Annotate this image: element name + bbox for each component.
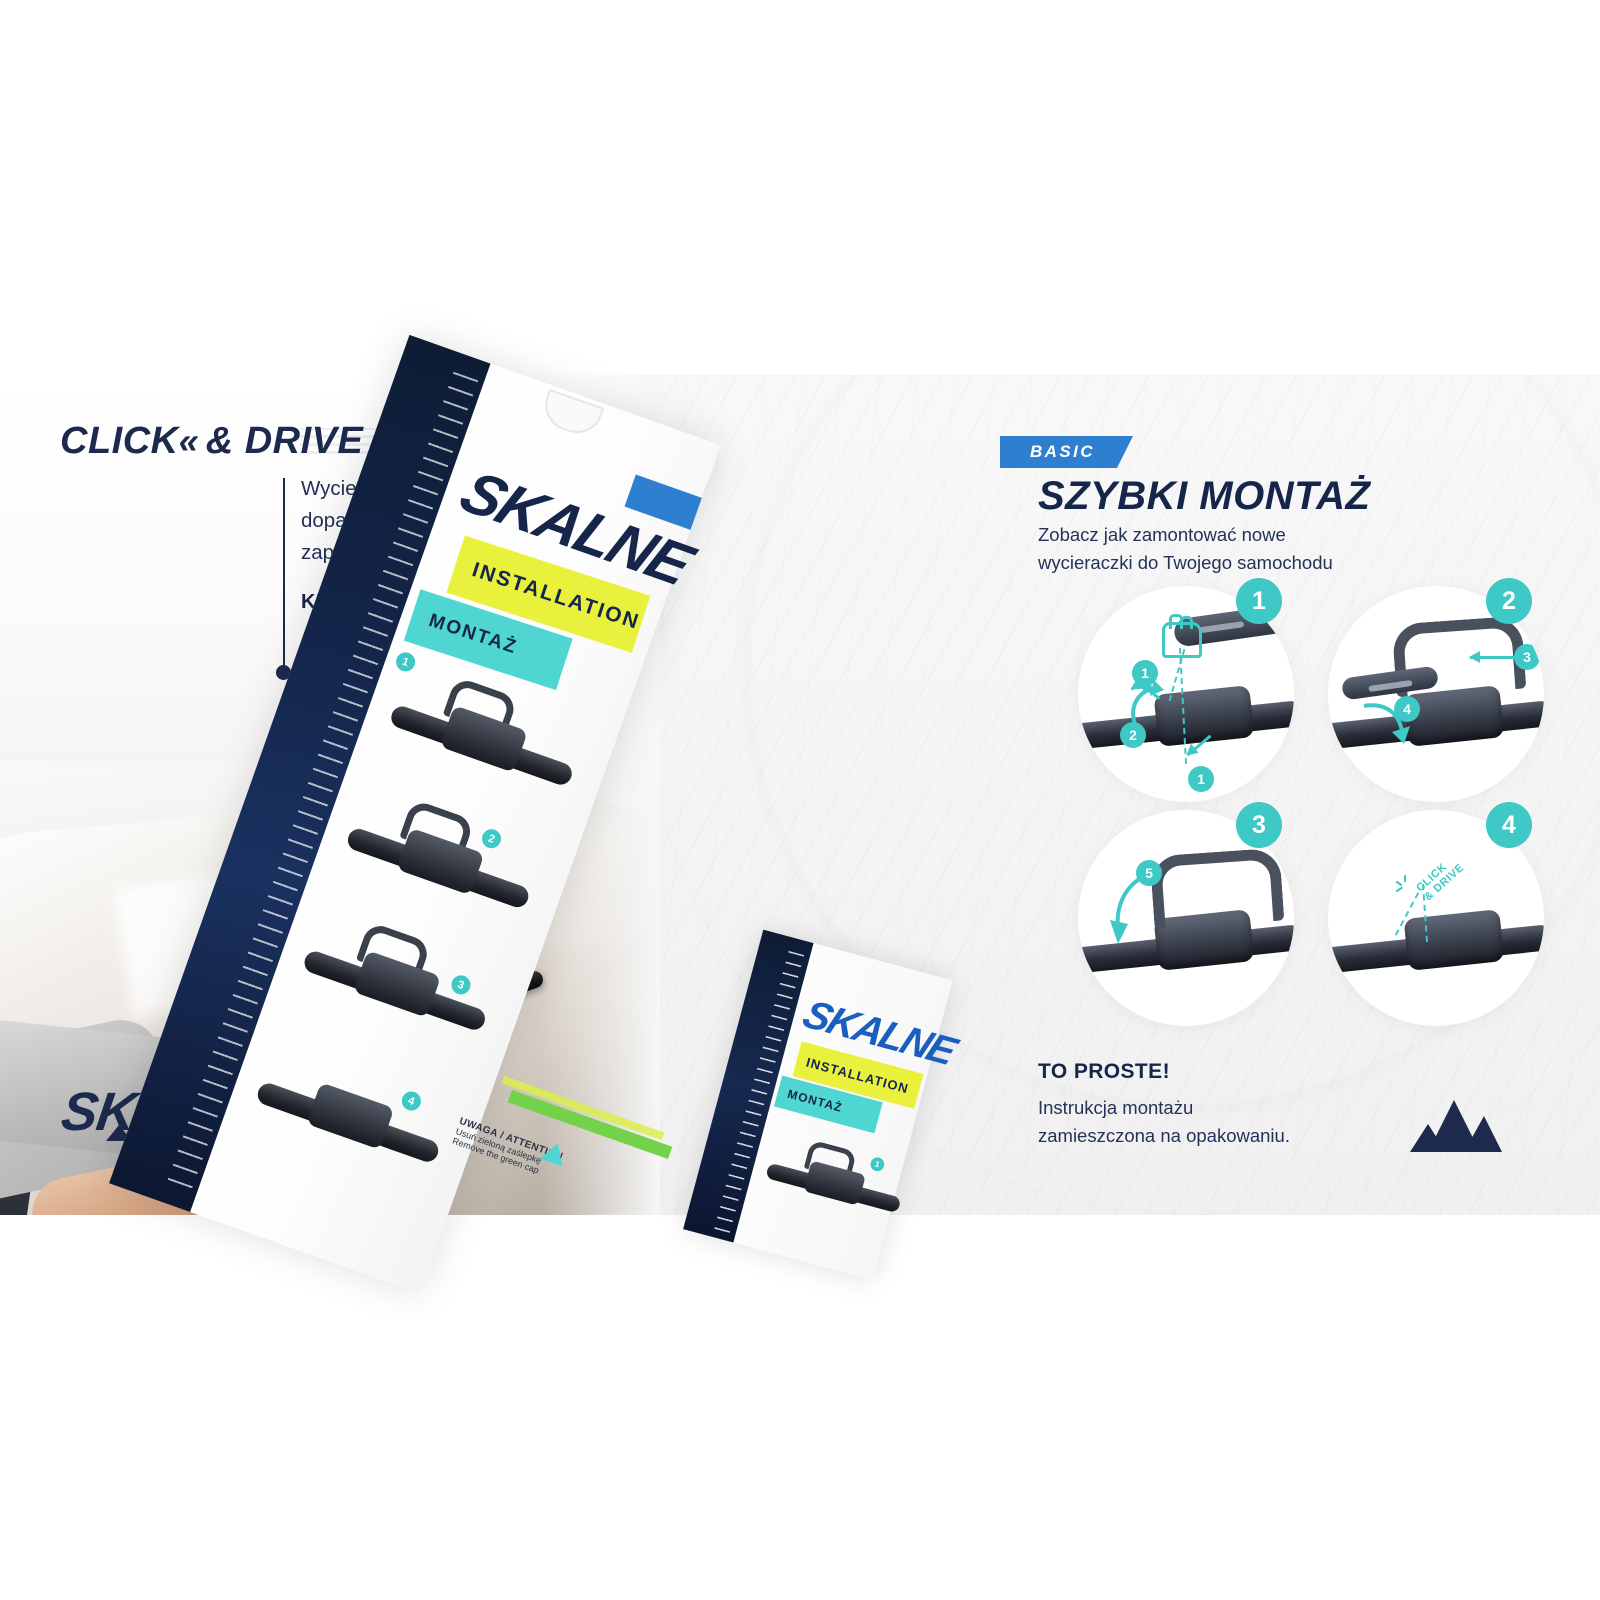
package-step2-adapter [396, 828, 484, 896]
package-montaz-text: MONTAŻ [426, 610, 520, 659]
section-subtitle-line-2: wycieraczki do Twojego samochodu [1038, 549, 1378, 577]
step2-marker-3: 3 [1514, 644, 1540, 670]
small-package-step-badge: 1 [869, 1156, 886, 1173]
instruction-steps-grid: 1 2 1 1 3 4 2 [1078, 578, 1548, 1018]
section-title: SZYBKI MONTAŻ [1038, 474, 1370, 519]
callout-connector-line [283, 478, 285, 670]
step-badge-3: 3 [1236, 802, 1282, 848]
package-step1-adapter [440, 705, 528, 773]
step1-marker-2: 2 [1120, 722, 1146, 748]
package-step1-badge: 1 [393, 650, 417, 674]
footer-line-2: zamieszczona na opakowaniu. [1038, 1122, 1438, 1150]
tier-badge-basic: BASIC [1000, 436, 1117, 468]
package-step2-badge: 2 [479, 827, 503, 851]
footer-line-1: Instrukcja montażu [1038, 1094, 1438, 1122]
step2-arrow-in [1470, 656, 1518, 659]
step-badge-1: 1 [1236, 578, 1282, 624]
kicker-chevrons-icon: « [179, 420, 195, 461]
step-badge-2: 2 [1486, 578, 1532, 624]
step1-marker-3: 1 [1188, 766, 1214, 792]
section-subtitle: Zobacz jak zamontować nowe wycieraczki d… [1038, 521, 1378, 577]
package-step3-badge: 3 [449, 973, 473, 997]
small-package-montaz-text: MONTAŻ [786, 1087, 844, 1115]
step1-marker-1: 1 [1132, 660, 1158, 686]
package-step4-adapter [306, 1082, 394, 1150]
kicker-click-and-drive: CLICK« & DRIVE [60, 420, 363, 463]
step4-adapter [1404, 909, 1505, 971]
package-step4-badge: 4 [399, 1089, 423, 1113]
banner-stage: CLICK« & DRIVE Wycieraczki posiadają dop… [0, 0, 1600, 1600]
step3-marker-5: 5 [1136, 860, 1162, 886]
mountain-logo-icon [1398, 1084, 1502, 1154]
tier-badge-label: BASIC [1030, 442, 1095, 462]
step-badge-4: 4 [1486, 802, 1532, 848]
kicker-prefix: CLICK [60, 420, 179, 462]
kicker-suffix: & DRIVE [206, 420, 364, 462]
package-step3-adapter [353, 950, 441, 1018]
footer-body: Instrukcja montażu zamieszczona na opako… [1038, 1094, 1438, 1150]
footer-title: TO PROSTE! [1038, 1060, 1438, 1084]
footer-text-block: TO PROSTE! Instrukcja montażu zamieszczo… [1038, 1060, 1438, 1150]
step4-spark-icon [1394, 874, 1416, 896]
step2-marker-4: 4 [1394, 696, 1420, 722]
small-package-adapter [803, 1160, 865, 1205]
step3-hook-arm [1150, 848, 1285, 930]
section-subtitle-line-1: Zobacz jak zamontować nowe [1038, 521, 1378, 549]
small-package-step-1: 1 [745, 1124, 919, 1253]
